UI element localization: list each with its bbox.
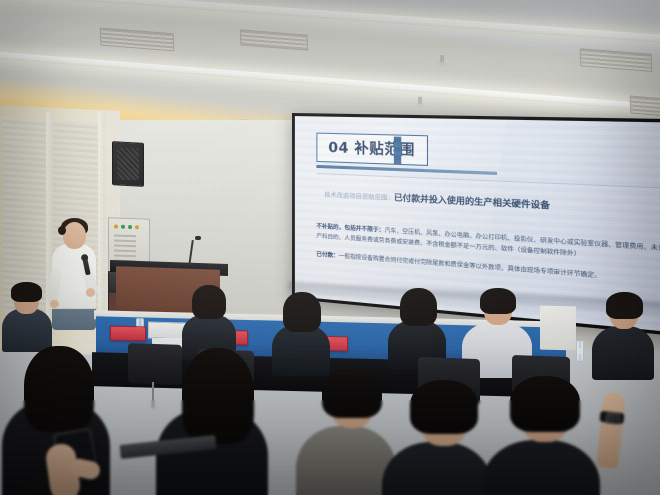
sprinkler-icon — [418, 96, 422, 105]
pa-speaker-icon — [112, 141, 144, 187]
hvac-vent-icon — [580, 48, 653, 72]
slide-title-box: 04 补贴范围 — [316, 133, 427, 166]
gooseneck-microphone-head — [195, 236, 201, 240]
audience-hair — [182, 348, 254, 444]
audience-hair — [606, 292, 643, 319]
hvac-vent-icon — [100, 27, 175, 51]
conference-photo-scene: 04 补贴范围 ” 技术改造项目资助范围：已付款并投入使用的生产相关硬件设备 不… — [0, 0, 660, 495]
slide-title-rule-secondary — [316, 173, 660, 189]
window-mullion — [98, 112, 105, 327]
sprinkler-icon — [440, 55, 444, 64]
audience-hair — [11, 282, 42, 302]
audience-shoulders — [482, 440, 600, 495]
raised-hand — [596, 391, 626, 469]
control-panel-leds — [114, 224, 139, 229]
presenter-hand-left — [50, 300, 59, 308]
hvac-vent-icon — [240, 29, 309, 50]
name-placard-text — [111, 330, 145, 331]
slide-lead-line: 技术改造项目资助范围：已付款并投入使用的生产相关硬件设备 — [324, 188, 660, 220]
ceiling-light-strip — [0, 0, 660, 50]
audience-hair — [410, 380, 478, 434]
audience-shoulders — [382, 442, 492, 495]
presenter-hair-bun — [58, 226, 66, 235]
audience-hair — [480, 288, 516, 314]
presenter-head — [63, 222, 86, 249]
chair-leg — [152, 382, 154, 408]
audience-hair — [24, 346, 94, 432]
audience-shoulders — [2, 308, 52, 352]
audience-hair — [510, 376, 580, 432]
presenter-hand-right — [86, 288, 95, 297]
slide-paragraph-label: 不补贴的，包括并不限于： — [316, 224, 384, 235]
paper-bag — [540, 306, 576, 351]
name-placard — [110, 326, 146, 342]
audience-hair — [400, 288, 437, 326]
water-bottle — [576, 340, 584, 362]
slide-title-accent-bar — [394, 137, 401, 164]
slide-paragraph-label: 已付款： — [316, 252, 338, 260]
audience-shoulders — [296, 426, 396, 495]
audience-hair — [322, 368, 382, 418]
smartwatch-icon — [599, 411, 624, 424]
slide-title: 04 补贴范围 — [328, 137, 415, 160]
slide-lead-emphasis: 已付款并投入使用的生产相关硬件设备 — [394, 192, 550, 211]
chair — [128, 343, 182, 385]
audience-hair — [283, 292, 321, 332]
slide-lead-prefix: 技术改造项目资助范围： — [324, 192, 394, 203]
tissue-box — [148, 322, 186, 340]
audience-hair — [192, 285, 226, 319]
audience-shoulders — [592, 326, 654, 380]
control-panel-rows — [114, 234, 136, 262]
hvac-vent-icon — [630, 95, 660, 117]
